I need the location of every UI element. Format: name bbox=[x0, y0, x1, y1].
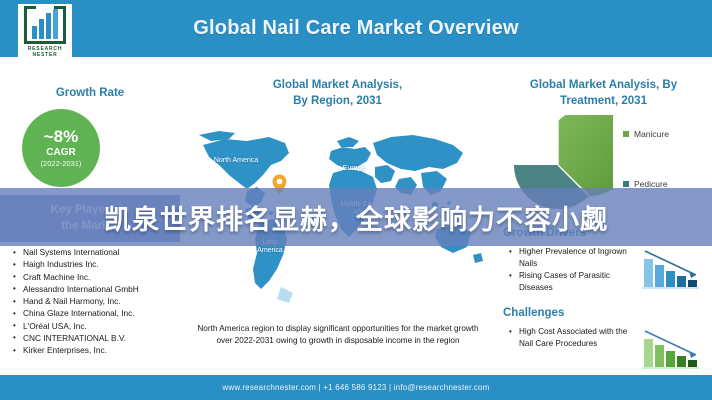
list-item: Higher Prevalence of Ingrown Nails bbox=[507, 246, 637, 269]
growth-rate-period: (2022-2031) bbox=[41, 159, 82, 168]
legend-item-manicure: Manicure bbox=[623, 129, 708, 139]
overlay-headline: 凯泉世界排名显赫，全球影响力不容小觑 bbox=[0, 188, 712, 246]
list-item: L'Oréal USA, Inc. bbox=[10, 321, 180, 333]
challenges-label: Challenges bbox=[503, 307, 564, 319]
list-item: China Glaze International, Inc. bbox=[10, 308, 180, 320]
list-item: Hand & Nail Harmony, Inc. bbox=[10, 296, 180, 308]
bar-chart-logo-icon bbox=[24, 9, 66, 44]
footer-contact-text: www.researchnester.com | +1 646 586 9123… bbox=[222, 383, 489, 392]
list-item: Rising Cases of Parasitic Diseases bbox=[507, 270, 637, 293]
list-item: Craft Machine Inc. bbox=[10, 272, 180, 284]
growth-rate-label: Growth Rate bbox=[0, 87, 180, 99]
descending-bar-chart-green-icon bbox=[640, 325, 702, 373]
map-caption: North America region to display signific… bbox=[192, 323, 484, 348]
list-item: Kirker Enterprises, Inc. bbox=[10, 345, 180, 357]
treatment-analysis-title-line2: Treatment, 2031 bbox=[501, 93, 706, 109]
list-item: High Cost Associated with the Nail Care … bbox=[507, 326, 637, 349]
logo-bar-1 bbox=[32, 26, 37, 39]
descending-bar-chart-blue-icon bbox=[640, 245, 702, 293]
list-item: Alessandro International GmbH bbox=[10, 284, 180, 296]
list-item: Haigh Industries Inc. bbox=[10, 259, 180, 271]
logo-bar-2 bbox=[39, 19, 44, 39]
region-analysis-title: Global Market Analysis, By Region, 2031 bbox=[180, 77, 495, 109]
region-analysis-title-line1: Global Market Analysis, bbox=[180, 77, 495, 93]
treatment-analysis-title-line1: Global Market Analysis, By bbox=[501, 77, 706, 93]
page-title: Global Nail Care Market Overview bbox=[0, 0, 712, 57]
legend-swatch-pedicure bbox=[623, 181, 629, 187]
list-item: Nail Systems International bbox=[10, 247, 180, 259]
logo-bar-4 bbox=[53, 9, 58, 39]
logo-bar-3 bbox=[46, 13, 51, 39]
challenges-list: High Cost Associated with the Nail Care … bbox=[507, 326, 637, 350]
map-label-north-america: North America bbox=[213, 157, 259, 165]
list-item: CNC INTERNATIONAL B.V. bbox=[10, 333, 180, 345]
treatment-analysis-title: Global Market Analysis, By Treatment, 20… bbox=[501, 77, 706, 109]
key-players-list: Nail Systems International Haigh Industr… bbox=[10, 247, 180, 358]
growth-drivers-list: Higher Prevalence of Ingrown Nails Risin… bbox=[507, 246, 637, 295]
research-nester-logo: RESEARCH NESTER bbox=[18, 4, 72, 66]
legend-label-manicure: Manicure bbox=[634, 129, 669, 139]
growth-rate-value: ~8% bbox=[44, 128, 79, 145]
map-label-europe: Europe bbox=[337, 165, 371, 173]
logo-wordmark: RESEARCH NESTER bbox=[28, 46, 62, 59]
logo-wordmark-line2: NESTER bbox=[28, 52, 62, 58]
legend-swatch-manicure bbox=[623, 131, 629, 137]
footer-bar: www.researchnester.com | +1 646 586 9123… bbox=[0, 375, 712, 400]
growth-rate-badge: ~8% CAGR (2022-2031) bbox=[22, 109, 100, 187]
infographic-canvas: Global Nail Care Market Overview RESEARC… bbox=[0, 0, 712, 400]
region-analysis-title-line2: By Region, 2031 bbox=[180, 93, 495, 109]
growth-rate-metric: CAGR bbox=[46, 147, 75, 158]
